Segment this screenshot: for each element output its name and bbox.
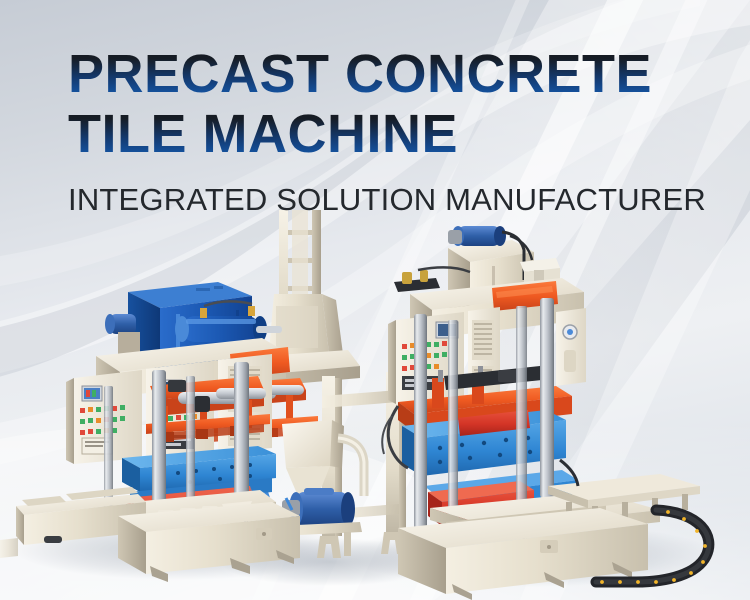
press-column — [448, 320, 458, 530]
promo-banner: PRECAST CONCRETE TILE MACHINE INTEGRATED… — [0, 0, 750, 600]
machinery-scene — [0, 210, 750, 600]
page-title-line-2: TILE MACHINE — [68, 104, 708, 164]
page-subtitle: INTEGRATED SOLUTION MANUFACTURER — [68, 182, 708, 218]
press-column — [516, 306, 527, 502]
page-title-line-1: PRECAST CONCRETE — [68, 44, 708, 104]
production-line-illustration — [0, 210, 750, 600]
press-column — [414, 314, 427, 532]
press-column — [540, 298, 554, 498]
headline-block: PRECAST CONCRETE TILE MACHINE INTEGRATED… — [68, 44, 708, 218]
left-press-machine — [16, 282, 300, 582]
far-left-small-frame — [0, 538, 18, 558]
